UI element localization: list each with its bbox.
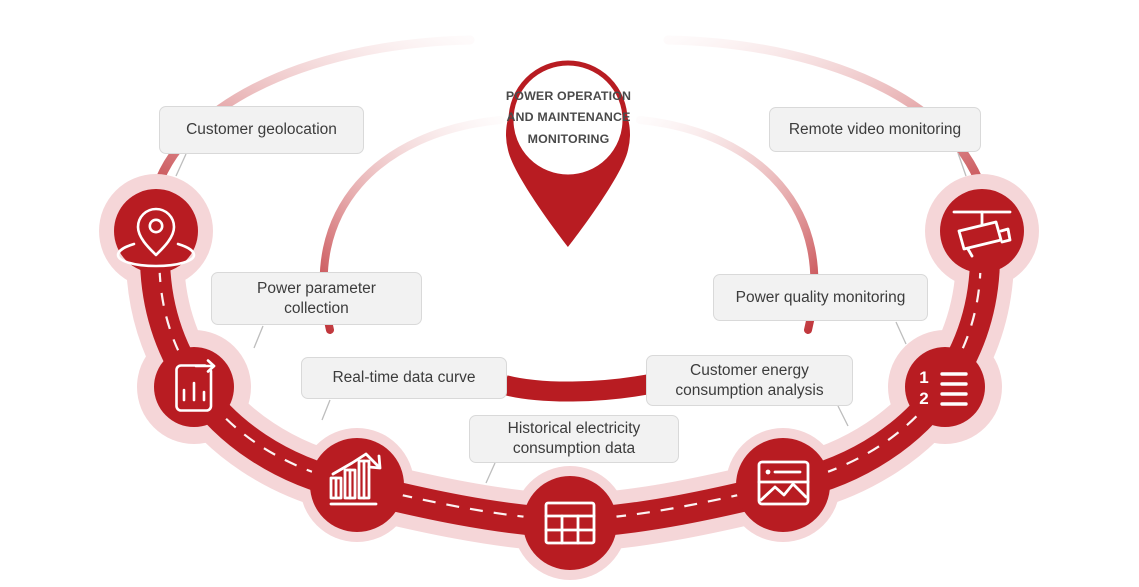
node-historical-data[interactable] <box>523 476 617 570</box>
label-power-parameter-collection[interactable]: Power parameter collection <box>211 272 422 325</box>
node-customer-energy[interactable] <box>736 438 830 532</box>
node-remote-video[interactable] <box>940 189 1024 273</box>
label-remote-video-monitoring[interactable]: Remote video monitoring <box>769 107 981 152</box>
node-power-quality[interactable] <box>905 347 985 427</box>
label-customer-energy-consumption-analysis[interactable]: Customer energy consumption analysis <box>646 355 853 406</box>
node-realtime-curve[interactable] <box>310 438 404 532</box>
label-historical-electricity-consumption-data[interactable]: Historical electricity consumption data <box>469 415 679 463</box>
label-customer-geolocation[interactable]: Customer geolocation <box>159 106 364 154</box>
label-realtime-data-curve[interactable]: Real-time data curve <box>301 357 507 399</box>
node-power-parameter[interactable] <box>154 347 234 427</box>
node-geolocation[interactable] <box>114 189 198 273</box>
diagram-canvas: 1 2 POWER OPERATION AND MAINTENANCE MONI… <box>0 0 1139 587</box>
center-marker-text: POWER OPERATION AND MAINTENANCE MONITORI… <box>496 86 641 150</box>
mid-connector <box>505 383 655 392</box>
label-power-quality-monitoring[interactable]: Power quality monitoring <box>713 274 928 321</box>
